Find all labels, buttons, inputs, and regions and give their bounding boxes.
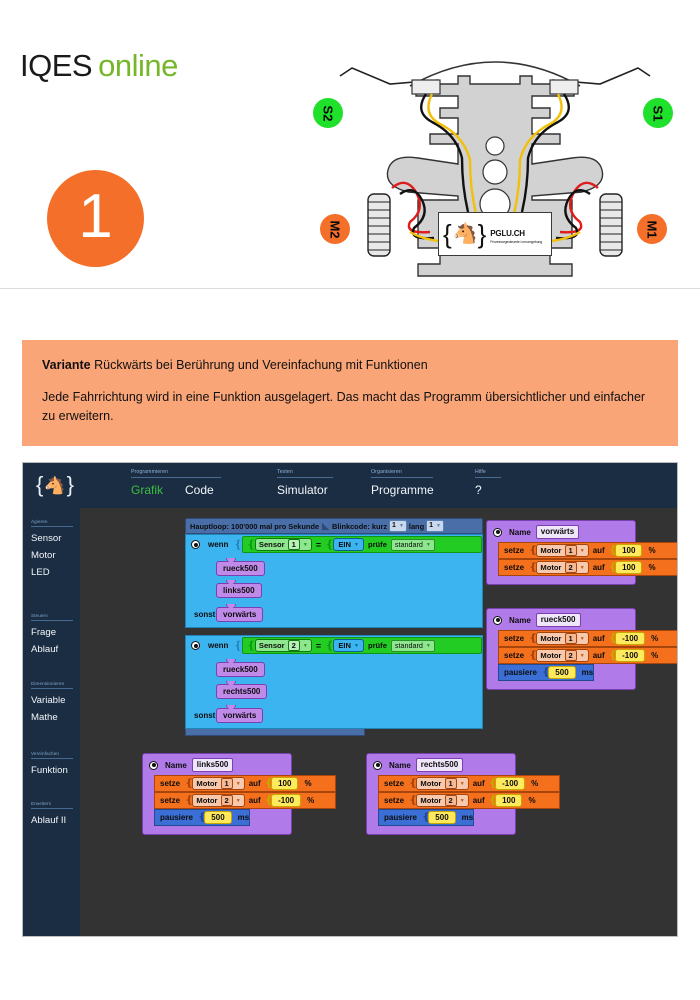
loop-title: Hauptloop: 100'000 mal pro Sekunde xyxy=(190,522,319,531)
wenn-then-body-2: rueck500 xyxy=(186,659,482,677)
setze-row[interactable]: setze ❴ Motor 2 ▼ auf ❴ 100 % xyxy=(498,559,678,576)
state-selector-1[interactable]: EIN ▼ xyxy=(333,538,364,551)
brand-sub: online xyxy=(98,48,178,83)
chevron-down-icon: ▼ xyxy=(580,548,585,554)
setze-label: setze xyxy=(160,796,180,805)
sidebar-item-funktion[interactable]: Funktion xyxy=(31,765,73,776)
brace-left-icon: { xyxy=(36,474,43,496)
motor-selector[interactable]: Motor 1 ▼ xyxy=(536,544,588,557)
blink-long-select[interactable]: 1▼ xyxy=(426,520,444,532)
function-vorwaerts[interactable]: Name vorwärts setze ❴ Motor 1 ▼ auf ❴ 10… xyxy=(486,520,636,585)
function-body: setze ❴ Motor 1 ▼ auf ❴ -100 % setze ❴ xyxy=(378,775,515,826)
radio-icon[interactable] xyxy=(149,761,158,770)
nav-caption: Testen xyxy=(277,469,333,478)
app-logo[interactable]: { 🐴 } xyxy=(31,467,79,503)
unit-label: % xyxy=(531,779,538,788)
sensor-label: Sensor xyxy=(259,540,285,549)
function-rechts500[interactable]: Name rechts500 setze ❴ Motor 1 ▼ auf ❴ -… xyxy=(366,753,516,835)
auf-label: auf xyxy=(249,796,261,805)
chevron-down-icon: ▼ xyxy=(354,542,359,548)
setze-label: setze xyxy=(160,779,180,788)
radio-icon[interactable] xyxy=(493,616,502,625)
iqes-online-logo: IQESonline xyxy=(20,48,178,84)
variante-label: Variante xyxy=(42,358,91,372)
function-name[interactable]: rueck500 xyxy=(536,613,581,627)
setze-label: setze xyxy=(384,796,404,805)
function-name[interactable]: vorwärts xyxy=(536,525,579,539)
brace-right-icon: } xyxy=(67,474,74,496)
tab-hilfe[interactable]: ? xyxy=(475,483,482,497)
step-number-badge: 1 xyxy=(47,170,144,267)
sensor-number[interactable]: 2 xyxy=(288,640,300,651)
auf-label: auf xyxy=(593,634,605,643)
setze-label: setze xyxy=(384,779,404,788)
unit-label: % xyxy=(528,796,535,805)
chevron-down-icon: ▼ xyxy=(236,798,241,804)
chevron-down-icon: ▼ xyxy=(303,542,308,548)
setze-row[interactable]: setze ❴ Motor 1 ▼ auf ❴ 100 % xyxy=(154,775,336,792)
call-block[interactable]: vorwärts xyxy=(216,607,263,622)
call-block[interactable]: links500 xyxy=(216,583,262,598)
sidebar-section-agieren: Agieren Sensor Motor LED xyxy=(31,519,73,578)
setze-row[interactable]: setze ❴ Motor 1 ▼ auf ❴ 100 % xyxy=(498,542,678,559)
condition-expression-2[interactable]: ❴ Sensor 2 ▼ = ❴ EIN ▼ prüfe xyxy=(242,637,482,654)
wenn-condition-row-1[interactable]: wenn ❴ ❴ Sensor 1 ▼ = ❴ EIN ▼ xyxy=(186,535,482,554)
call-block[interactable]: vorwärts xyxy=(216,708,263,723)
port-badge-s2: S2 xyxy=(313,98,343,128)
motor-selector[interactable]: Motor 2 ▼ xyxy=(416,794,468,807)
unit-label: ms xyxy=(462,813,474,822)
sidebar-item-led[interactable]: LED xyxy=(31,567,73,578)
pausiere-label: pausiere xyxy=(384,813,417,822)
setze-row[interactable]: setze ❴ Motor 2 ▼ auf ❴ -100 % xyxy=(498,647,678,664)
radio-icon[interactable] xyxy=(191,540,200,549)
blink-short-select[interactable]: 1▼ xyxy=(389,520,407,532)
setze-label: setze xyxy=(504,651,524,660)
sidebar-caption: Steuern xyxy=(31,613,73,621)
unit-label: % xyxy=(648,563,655,572)
operator-equals: = xyxy=(316,540,321,550)
chevron-down-icon: ▼ xyxy=(303,643,308,649)
pglu-logo-box: { 🐴 } PGLU.CH Prozessorgesteuerte Lernum… xyxy=(438,212,552,256)
motor-selector[interactable]: Motor 1 ▼ xyxy=(536,632,588,645)
sensor-number[interactable]: 1 xyxy=(288,539,300,550)
chevron-down-icon: ▼ xyxy=(354,643,359,649)
setze-row[interactable]: setze ❴ Motor 2 ▼ auf ❴ 100 % xyxy=(378,792,560,809)
pausiere-label: pausiere xyxy=(504,668,537,677)
auf-label: auf xyxy=(593,563,605,572)
port-badge-s1: S1 xyxy=(643,98,673,128)
pausiere-label: pausiere xyxy=(160,813,193,822)
unit-label: ms xyxy=(238,813,250,822)
value-input[interactable]: 500 xyxy=(548,666,575,679)
chevron-down-icon: ▼ xyxy=(460,781,465,787)
sensor-label: Sensor xyxy=(259,641,285,650)
sidebar-caption: Dimensionieren xyxy=(31,681,73,689)
value-input[interactable]: 100 xyxy=(495,794,522,807)
pglu-app-window: { 🐴 } Programmieren Grafik Code Testen S… xyxy=(22,462,678,937)
brace-left-icon: { xyxy=(443,221,452,247)
loop-footer xyxy=(185,729,365,736)
auf-label: auf xyxy=(593,546,605,555)
nav-group-testen: Testen Simulator xyxy=(277,469,333,497)
tab-programme[interactable]: Programme xyxy=(371,483,434,497)
sensor-selector-2[interactable]: Sensor 2 ▼ xyxy=(255,639,312,652)
wenn-else-row-1: sonst vorwärts xyxy=(186,607,482,622)
setze-label: setze xyxy=(504,546,524,555)
auf-label: auf xyxy=(593,651,605,660)
notch-icon: ◣ xyxy=(322,521,329,532)
app-topbar xyxy=(23,463,678,508)
setze-row[interactable]: setze ❴ Motor 2 ▼ auf ❴ -100 % xyxy=(154,792,336,809)
tab-simulator[interactable]: Simulator xyxy=(277,483,328,497)
hauptloop-block[interactable]: Hauptloop: 100'000 mal pro Sekunde ◣ Bli… xyxy=(185,518,483,736)
sidebar-item-ablauf-ii[interactable]: Ablauf II xyxy=(31,815,73,826)
function-body: setze ❴ Motor 1 ▼ auf ❴ 100 % setze ❴ xyxy=(154,775,291,826)
condition-expression-1[interactable]: ❴ Sensor 1 ▼ = ❴ EIN ▼ prüfe xyxy=(242,536,482,553)
auf-label: auf xyxy=(473,796,485,805)
header-divider xyxy=(0,288,700,289)
auf-label: auf xyxy=(473,779,485,788)
sidebar-caption: Vereinfachen xyxy=(31,751,73,759)
pruefe-label: prüfe xyxy=(368,641,387,650)
value-input[interactable]: 100 xyxy=(615,544,642,557)
pglu-title: PGLU.CH xyxy=(490,229,525,238)
pruefe-selector-2[interactable]: standard ▼ xyxy=(391,640,435,652)
motor-selector[interactable]: Motor 2 ▼ xyxy=(192,794,244,807)
call-block[interactable]: rueck500 xyxy=(216,561,265,576)
radio-icon[interactable] xyxy=(373,761,382,770)
sidebar-item-motor[interactable]: Motor xyxy=(31,550,73,561)
sidebar-caption: Erweitern xyxy=(31,801,73,809)
wenn-condition-row-2[interactable]: wenn ❴ ❴ Sensor 2 ▼ = ❴ EIN ▼ xyxy=(186,636,482,655)
nav-group-hilfe: Hilfe ? xyxy=(475,469,501,497)
pglu-subtitle: Prozessorgesteuerte Lernumgebung xyxy=(490,241,542,245)
unit-label: % xyxy=(648,546,655,555)
value-input[interactable]: -100 xyxy=(615,632,645,645)
function-name[interactable]: rechts500 xyxy=(416,758,463,772)
variante-callout: Variante Rückwärts bei Berührung und Ver… xyxy=(22,340,678,446)
brace-right-icon: } xyxy=(478,221,487,247)
brand-main: IQES xyxy=(20,48,92,83)
function-name[interactable]: links500 xyxy=(192,758,234,772)
port-badge-m2: M2 xyxy=(320,214,350,244)
setze-label: setze xyxy=(504,563,524,572)
function-rueck500[interactable]: Name rueck500 setze ❴ Motor 1 ▼ auf ❴ -1… xyxy=(486,608,636,690)
call-block[interactable]: rechts500 xyxy=(216,684,267,699)
sonst-keyword: sonst xyxy=(194,610,216,619)
function-header[interactable]: Name vorwärts xyxy=(487,525,635,539)
value-input[interactable]: -100 xyxy=(271,794,301,807)
nav-caption: Programmieren xyxy=(131,469,221,478)
name-label: Name xyxy=(509,616,531,625)
radio-icon[interactable] xyxy=(493,528,502,537)
sonst-keyword: sonst xyxy=(194,711,216,720)
wenn-then-body-2b: rechts500 xyxy=(186,681,482,699)
motor-selector[interactable]: Motor 1 ▼ xyxy=(416,777,468,790)
motor-selector[interactable]: Motor 1 ▼ xyxy=(192,777,244,790)
tab-code[interactable]: Code xyxy=(185,483,214,497)
blink-label: Blinkcode: kurz xyxy=(332,522,387,531)
unit-label: % xyxy=(651,651,658,660)
nav-caption: Hilfe xyxy=(475,469,501,478)
chevron-down-icon: ▼ xyxy=(580,565,585,571)
sidebar-item-sensor[interactable]: Sensor xyxy=(31,533,73,544)
name-label: Name xyxy=(165,761,187,770)
setze-row[interactable]: setze ❴ Motor 1 ▼ auf ❴ -100 % xyxy=(498,630,678,647)
program-canvas[interactable]: Hauptloop: 100'000 mal pro Sekunde ◣ Bli… xyxy=(80,508,678,937)
wenn-block-2[interactable]: wenn ❴ ❴ Sensor 2 ▼ = ❴ EIN ▼ xyxy=(185,635,483,729)
sidebar-caption: Agieren xyxy=(31,519,73,527)
pausiere-row[interactable]: pausiere ❴ 500 ms xyxy=(154,809,250,826)
pruefe-label: prüfe xyxy=(368,540,387,549)
robot-diagram: S2 S1 M2 M1 { 🐴 } PGLU.CH Prozessorgeste… xyxy=(310,36,680,284)
call-block[interactable]: rueck500 xyxy=(216,662,265,677)
variante-body: Jede Fahrrichtung wird in eine Funktion … xyxy=(42,388,658,427)
radio-icon[interactable] xyxy=(191,641,200,650)
motor-selector[interactable]: Motor 2 ▼ xyxy=(536,649,588,662)
sidebar-item-variable[interactable]: Variable xyxy=(31,695,73,706)
chevron-down-icon: ▼ xyxy=(236,781,241,787)
chevron-down-icon: ▼ xyxy=(580,653,585,659)
function-header[interactable]: Name links500 xyxy=(143,758,291,772)
nav-group-programmieren: Programmieren Grafik Code xyxy=(131,469,221,497)
value-input[interactable]: 100 xyxy=(271,777,298,790)
wenn-keyword: wenn xyxy=(208,641,228,650)
sidebar-item-mathe[interactable]: Mathe xyxy=(31,712,73,723)
function-body: setze ❴ Motor 1 ▼ auf ❴ 100 % setze ❴ xyxy=(498,542,635,576)
sidebar-item-frage[interactable]: Frage xyxy=(31,627,73,638)
pglu-text: PGLU.CH Prozessorgesteuerte Lernumgebung xyxy=(490,224,542,244)
function-header[interactable]: Name rueck500 xyxy=(487,613,635,627)
sidebar-section-dimensionieren: Dimensionieren Variable Mathe xyxy=(31,681,73,723)
horse-logo-icon: 🐴 xyxy=(44,477,65,494)
blink-long-label: lang xyxy=(409,522,424,531)
operator-equals: = xyxy=(316,641,321,651)
chevron-down-icon: ▼ xyxy=(426,643,431,649)
wenn-keyword: wenn xyxy=(208,540,228,549)
chevron-down-icon: ▼ xyxy=(460,798,465,804)
function-header[interactable]: Name rechts500 xyxy=(367,758,515,772)
wenn-else-row-2: sonst vorwärts xyxy=(186,708,482,723)
sidebar-section-steuern: Steuern Frage Ablauf xyxy=(31,613,73,655)
wenn-then-body-1: rueck500 xyxy=(186,558,482,576)
pausiere-row[interactable]: pausiere ❴ 500 ms xyxy=(498,664,594,681)
value-input[interactable]: 500 xyxy=(204,811,231,824)
sidebar-item-ablauf[interactable]: Ablauf xyxy=(31,644,73,655)
value-input[interactable]: 100 xyxy=(615,561,642,574)
chevron-down-icon: ▼ xyxy=(399,521,404,531)
unit-label: % xyxy=(304,779,311,788)
value-input[interactable]: -100 xyxy=(615,649,645,662)
state-selector-2[interactable]: EIN ▼ xyxy=(333,639,364,652)
function-body: setze ❴ Motor 1 ▼ auf ❴ -100 % setze ❴ xyxy=(498,630,635,681)
sidebar-section-erweitern: Erweitern Ablauf II xyxy=(31,801,73,826)
nav-caption: Organisieren xyxy=(371,469,433,478)
sensor-selector-1[interactable]: Sensor 1 ▼ xyxy=(255,538,312,551)
tab-grafik[interactable]: Grafik xyxy=(131,483,185,497)
setze-label: setze xyxy=(504,634,524,643)
sidebar-section-vereinfachen: Vereinfachen Funktion xyxy=(31,751,73,776)
variante-title: Variante Rückwärts bei Berührung und Ver… xyxy=(42,358,658,372)
loop-header[interactable]: Hauptloop: 100'000 mal pro Sekunde ◣ Bli… xyxy=(185,518,483,534)
horse-icon: 🐴 xyxy=(453,224,478,244)
setze-row[interactable]: setze ❴ Motor 1 ▼ auf ❴ -100 % xyxy=(378,775,560,792)
value-input[interactable]: -100 xyxy=(495,777,525,790)
wenn-then-body-1b: links500 xyxy=(186,580,482,598)
pruefe-selector-1[interactable]: standard ▼ xyxy=(391,539,435,551)
auf-label: auf xyxy=(249,779,261,788)
name-label: Name xyxy=(509,528,531,537)
port-badge-m1: M1 xyxy=(637,214,667,244)
variante-title-rest: Rückwärts bei Berührung und Vereinfachun… xyxy=(91,358,428,372)
page-header: IQESonline 1 xyxy=(0,0,700,289)
motor-selector[interactable]: Motor 2 ▼ xyxy=(536,561,588,574)
pausiere-row[interactable]: pausiere ❴ 500 ms xyxy=(378,809,474,826)
nav-group-organisieren: Organisieren Programme xyxy=(371,469,433,497)
chevron-down-icon: ▼ xyxy=(436,521,441,531)
unit-label: ms xyxy=(582,668,594,677)
chevron-down-icon: ▼ xyxy=(426,542,431,548)
unit-label: % xyxy=(651,634,658,643)
function-links500[interactable]: Name links500 setze ❴ Motor 1 ▼ auf ❴ 10… xyxy=(142,753,292,835)
name-label: Name xyxy=(389,761,411,770)
wenn-block-1[interactable]: wenn ❴ ❴ Sensor 1 ▼ = ❴ EIN ▼ xyxy=(185,534,483,628)
chevron-down-icon: ▼ xyxy=(580,636,585,642)
unit-label: % xyxy=(307,796,314,805)
value-input[interactable]: 500 xyxy=(428,811,455,824)
